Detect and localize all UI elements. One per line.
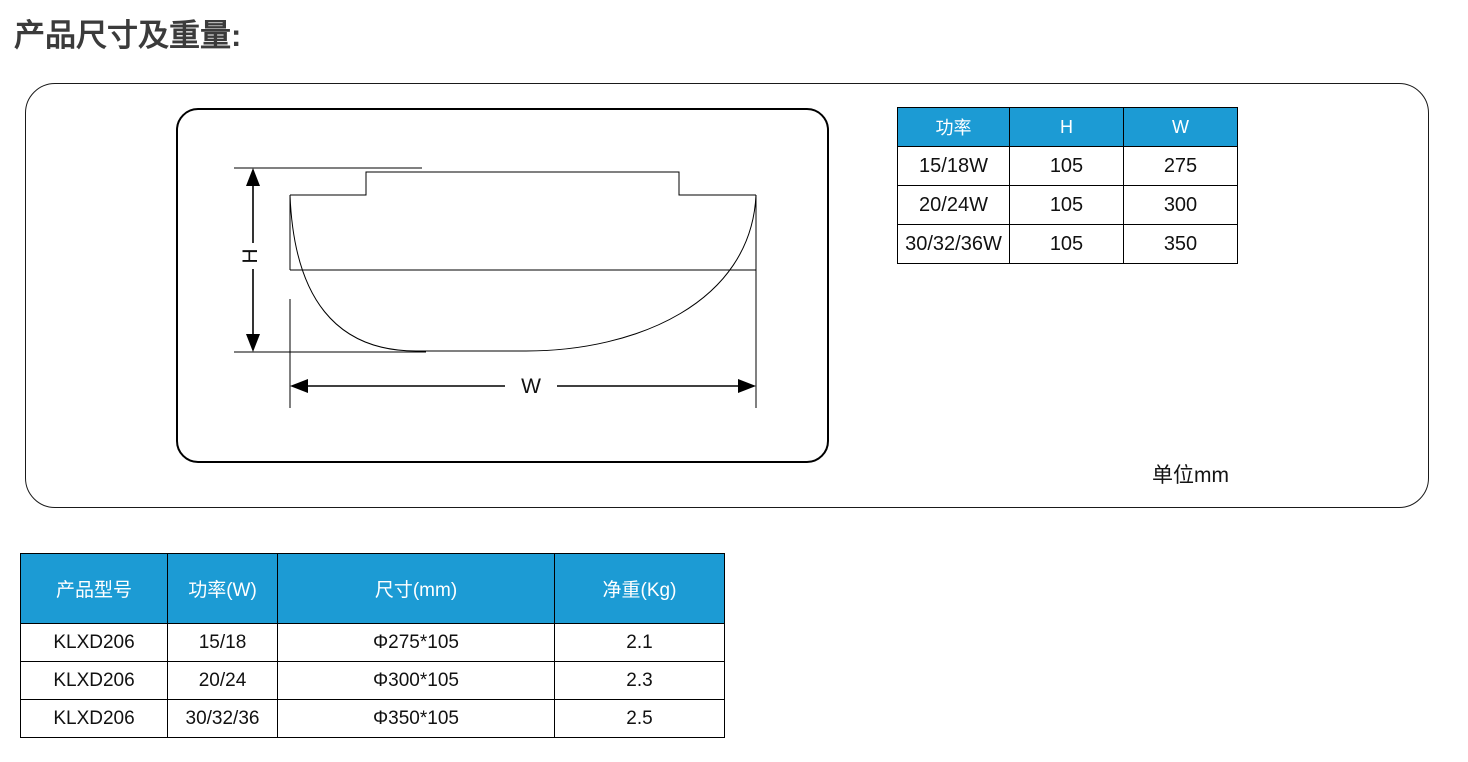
product-cross-section-diagram <box>176 108 829 463</box>
product-header-model: 产品型号 <box>21 554 168 624</box>
product-cell-power: 20/24 <box>168 662 278 700</box>
table-row: KLXD206 15/18 Φ275*105 2.1 <box>21 624 725 662</box>
spec-header-h: H <box>1010 108 1124 147</box>
table-row: 20/24W 105 300 <box>898 186 1238 225</box>
spec-cell-w: 275 <box>1124 147 1238 186</box>
height-dimension-label: H <box>238 243 268 269</box>
power-dimension-table: 功率 H W 15/18W 105 275 20/24W 105 300 30/… <box>897 107 1238 264</box>
product-cell-power: 15/18 <box>168 624 278 662</box>
product-cell-model: KLXD206 <box>21 700 168 738</box>
table-row: KLXD206 20/24 Φ300*105 2.3 <box>21 662 725 700</box>
spec-cell-h: 105 <box>1010 147 1124 186</box>
spec-header-power: 功率 <box>898 108 1010 147</box>
spec-cell-power: 30/32/36W <box>898 225 1010 264</box>
width-dimension-label: W <box>505 375 557 401</box>
spec-header-w: W <box>1124 108 1238 147</box>
product-cell-weight: 2.5 <box>555 700 725 738</box>
product-header-power: 功率(W) <box>168 554 278 624</box>
spec-cell-h: 105 <box>1010 186 1124 225</box>
table-header-row: 产品型号 功率(W) 尺寸(mm) 净重(Kg) <box>21 554 725 624</box>
table-row: 30/32/36W 105 350 <box>898 225 1238 264</box>
table-header-row: 功率 H W <box>898 108 1238 147</box>
product-cell-weight: 2.3 <box>555 662 725 700</box>
spec-cell-power: 15/18W <box>898 147 1010 186</box>
product-header-size: 尺寸(mm) <box>278 554 555 624</box>
product-cell-model: KLXD206 <box>21 624 168 662</box>
spec-cell-h: 105 <box>1010 225 1124 264</box>
table-row: KLXD206 30/32/36 Φ350*105 2.5 <box>21 700 725 738</box>
product-cell-power: 30/32/36 <box>168 700 278 738</box>
spec-cell-w: 350 <box>1124 225 1238 264</box>
product-cell-model: KLXD206 <box>21 662 168 700</box>
product-cell-size: Φ275*105 <box>278 624 555 662</box>
page-title: 产品尺寸及重量: <box>14 20 241 51</box>
product-cell-size: Φ350*105 <box>278 700 555 738</box>
product-header-weight: 净重(Kg) <box>555 554 725 624</box>
table-row: 15/18W 105 275 <box>898 147 1238 186</box>
spec-cell-w: 300 <box>1124 186 1238 225</box>
unit-note: 单位mm <box>1152 459 1229 489</box>
product-spec-table: 产品型号 功率(W) 尺寸(mm) 净重(Kg) KLXD206 15/18 Φ… <box>20 553 725 738</box>
page-root: 产品尺寸及重量: <box>0 0 1468 762</box>
spec-cell-power: 20/24W <box>898 186 1010 225</box>
product-cell-weight: 2.1 <box>555 624 725 662</box>
product-cell-size: Φ300*105 <box>278 662 555 700</box>
